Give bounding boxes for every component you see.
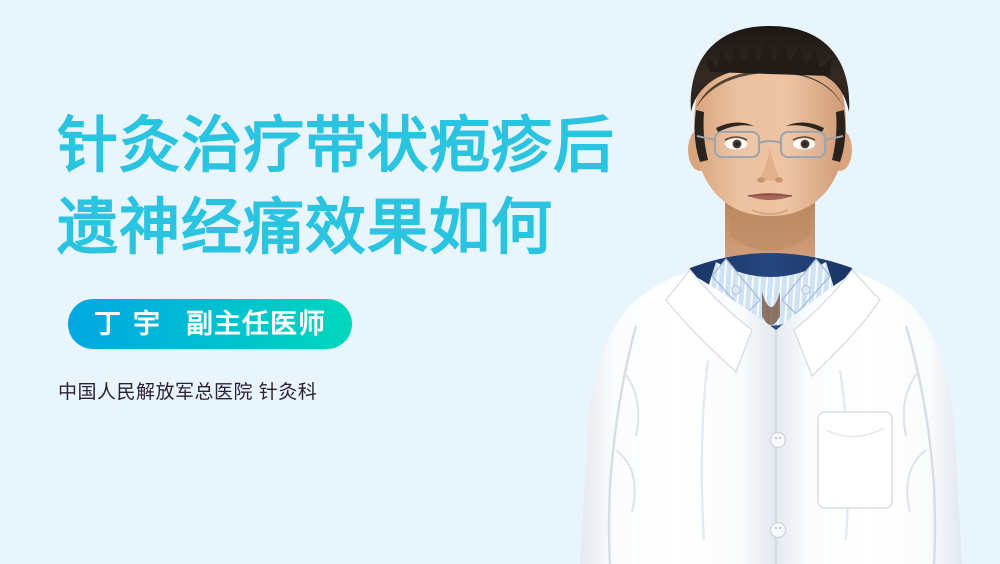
- hospital-department-label: 中国人民解放军总医院 针灸科: [58, 381, 317, 405]
- doctor-credential-badge: 丁宇副主任医师: [68, 299, 352, 349]
- doctor-name: 丁宇: [94, 309, 172, 339]
- doctor-portrait-image: [540, 0, 1000, 564]
- headline-block: 针灸治疗带状疱疹后 遗神经痛效果如何: [57, 104, 617, 268]
- headline-line-2: 遗神经痛效果如何: [57, 186, 617, 268]
- headline: 针灸治疗带状疱疹后 遗神经痛效果如何: [57, 104, 617, 268]
- poster-canvas: 针灸治疗带状疱疹后 遗神经痛效果如何 丁宇副主任医师 中国人民解放军总医院 针灸…: [0, 0, 1000, 564]
- headline-line-1: 针灸治疗带状疱疹后: [57, 104, 617, 186]
- doctor-credential-text: 丁宇副主任医师: [94, 311, 326, 338]
- doctor-title: 副主任医师: [186, 309, 326, 339]
